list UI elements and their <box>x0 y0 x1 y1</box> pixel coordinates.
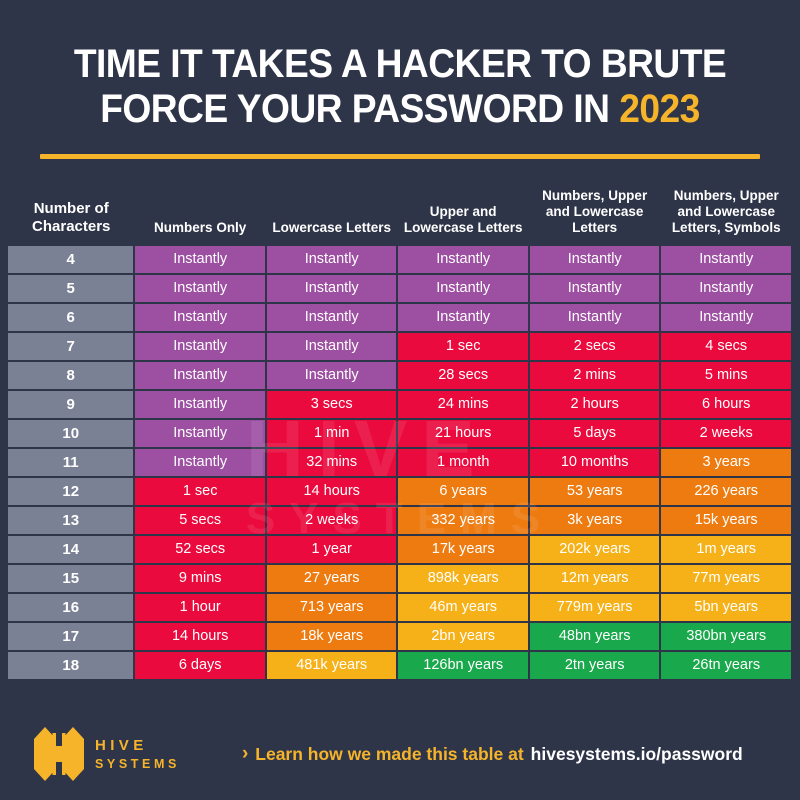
crack-time-cell: Instantly <box>660 304 792 331</box>
crack-time-cell: Instantly <box>397 275 529 302</box>
crack-time-cell: 3 secs <box>266 391 398 418</box>
crack-time-cell: 9 mins <box>134 565 266 592</box>
hive-hexagon-h-icon <box>32 725 86 783</box>
crack-time-cell: 5 mins <box>660 362 792 389</box>
hive-systems-wordmark: HIVE SYSTEMS <box>95 738 180 771</box>
crack-time-cell: 2 weeks <box>660 420 792 447</box>
crack-time-cell: 17k years <box>397 536 529 563</box>
crack-time-cell: 332 years <box>397 507 529 534</box>
row-label-character-count: 9 <box>8 391 134 418</box>
crack-time-cell: 5bn years <box>660 594 792 621</box>
chevron-right-icon: › <box>242 743 248 765</box>
crack-time-cell: 713 years <box>266 594 398 621</box>
row-label-character-count: 7 <box>8 333 134 360</box>
crack-time-cell: Instantly <box>266 304 398 331</box>
table-row: 4InstantlyInstantlyInstantlyInstantlyIns… <box>8 246 792 273</box>
table-row: 7InstantlyInstantly1 sec2 secs4 secs <box>8 333 792 360</box>
crack-time-cell: 1 hour <box>134 594 266 621</box>
crack-time-cell: Instantly <box>134 420 266 447</box>
crack-time-cell: Instantly <box>529 304 661 331</box>
crack-time-cell: 2tn years <box>529 652 661 679</box>
footer-cta-text: Learn how we made this table at <box>255 744 523 765</box>
table-body: 4InstantlyInstantlyInstantlyInstantlyIns… <box>8 246 792 679</box>
crack-time-cell: 53 years <box>529 478 661 505</box>
row-label-character-count: 6 <box>8 304 134 331</box>
row-label-character-count: 15 <box>8 565 134 592</box>
crack-time-cell: Instantly <box>397 246 529 273</box>
crack-time-cell: 5 days <box>529 420 661 447</box>
hive-systems-logo[interactable]: HIVE SYSTEMS <box>32 725 180 783</box>
crack-time-cell: Instantly <box>134 275 266 302</box>
crack-time-cell: 14 hours <box>266 478 398 505</box>
footer-cta-link[interactable]: › Learn how we made this table at hivesy… <box>242 743 743 765</box>
crack-time-cell: Instantly <box>266 362 398 389</box>
title-block: TIME IT TAKES A HACKER TO BRUTE FORCE YO… <box>0 0 800 159</box>
table-row: 6InstantlyInstantlyInstantlyInstantlyIns… <box>8 304 792 331</box>
column-header-numbers-upper-and-lowercase-letters: Numbers, Upper and Lowercase Letters <box>529 188 661 244</box>
row-label-character-count: 4 <box>8 246 134 273</box>
crack-time-cell: Instantly <box>660 275 792 302</box>
crack-time-cell: 3k years <box>529 507 661 534</box>
password-strength-table-wrap: Number of Characters Numbers Only Lowerc… <box>8 186 792 681</box>
row-label-character-count: 11 <box>8 449 134 476</box>
column-header-numbers-upper-lowercase-symbols: Numbers, Upper and Lowercase Letters, Sy… <box>660 188 792 244</box>
table-row: 1452 secs1 year17k years202k years1m yea… <box>8 536 792 563</box>
crack-time-cell: 481k years <box>266 652 398 679</box>
crack-time-cell: Instantly <box>134 304 266 331</box>
crack-time-cell: Instantly <box>134 246 266 273</box>
crack-time-cell: 2 hours <box>529 391 661 418</box>
crack-time-cell: 226 years <box>660 478 792 505</box>
footer-bar: HIVE SYSTEMS › Learn how we made this ta… <box>0 708 800 800</box>
footer-cta-url: hivesystems.io/password <box>531 744 743 765</box>
table-header-row: Number of Characters Numbers Only Lowerc… <box>8 188 792 244</box>
crack-time-cell: 126bn years <box>397 652 529 679</box>
crack-time-cell: Instantly <box>660 246 792 273</box>
row-label-character-count: 17 <box>8 623 134 650</box>
crack-time-cell: Instantly <box>266 333 398 360</box>
row-label-character-count: 16 <box>8 594 134 621</box>
crack-time-cell: 1 month <box>397 449 529 476</box>
table-row: 5InstantlyInstantlyInstantlyInstantlyIns… <box>8 275 792 302</box>
crack-time-cell: 202k years <box>529 536 661 563</box>
crack-time-cell: 898k years <box>397 565 529 592</box>
page-title-year: 2023 <box>619 87 700 131</box>
title-divider <box>40 154 760 159</box>
crack-time-cell: Instantly <box>529 275 661 302</box>
row-label-character-count: 5 <box>8 275 134 302</box>
page-title-line-1: TIME IT TAKES A HACKER TO BRUTE <box>65 42 735 87</box>
crack-time-cell: 48bn years <box>529 623 661 650</box>
crack-time-cell: 2 mins <box>529 362 661 389</box>
crack-time-cell: 6 years <box>397 478 529 505</box>
crack-time-cell: 10 months <box>529 449 661 476</box>
crack-time-cell: 1 sec <box>134 478 266 505</box>
crack-time-cell: 14 hours <box>134 623 266 650</box>
logo-text-hive: HIVE <box>95 738 180 753</box>
infographic-page: TIME IT TAKES A HACKER TO BRUTE FORCE YO… <box>0 0 800 800</box>
crack-time-cell: 28 secs <box>397 362 529 389</box>
table-row: 135 secs2 weeks332 years3k years15k year… <box>8 507 792 534</box>
column-header-number-of-characters: Number of Characters <box>8 188 134 244</box>
crack-time-cell: 26tn years <box>660 652 792 679</box>
crack-time-cell: 32 mins <box>266 449 398 476</box>
crack-time-cell: Instantly <box>134 391 266 418</box>
crack-time-cell: 52 secs <box>134 536 266 563</box>
crack-time-cell: Instantly <box>134 362 266 389</box>
crack-time-cell: Instantly <box>134 449 266 476</box>
crack-time-cell: 27 years <box>266 565 398 592</box>
page-title-line-2-text: FORCE YOUR PASSWORD IN <box>100 87 619 131</box>
logo-text-systems: SYSTEMS <box>95 758 180 771</box>
row-label-character-count: 10 <box>8 420 134 447</box>
table-row: 8InstantlyInstantly28 secs2 mins5 mins <box>8 362 792 389</box>
table-row: 161 hour713 years46m years779m years5bn … <box>8 594 792 621</box>
crack-time-cell: 24 mins <box>397 391 529 418</box>
crack-time-cell: Instantly <box>266 275 398 302</box>
crack-time-cell: 2bn years <box>397 623 529 650</box>
table-row: 11Instantly32 mins1 month10 months3 year… <box>8 449 792 476</box>
table-row: 10Instantly1 min21 hours5 days2 weeks <box>8 420 792 447</box>
table-row: 159 mins27 years898k years12m years77m y… <box>8 565 792 592</box>
table-header: Number of Characters Numbers Only Lowerc… <box>8 188 792 244</box>
crack-time-cell: 1m years <box>660 536 792 563</box>
password-strength-table: Number of Characters Numbers Only Lowerc… <box>8 186 792 681</box>
crack-time-cell: 4 secs <box>660 333 792 360</box>
crack-time-cell: 1 sec <box>397 333 529 360</box>
crack-time-cell: 1 year <box>266 536 398 563</box>
crack-time-cell: 46m years <box>397 594 529 621</box>
crack-time-cell: 380bn years <box>660 623 792 650</box>
row-label-character-count: 18 <box>8 652 134 679</box>
crack-time-cell: 779m years <box>529 594 661 621</box>
crack-time-cell: 6 days <box>134 652 266 679</box>
table-row: 186 days481k years126bn years2tn years26… <box>8 652 792 679</box>
row-label-character-count: 14 <box>8 536 134 563</box>
crack-time-cell: 12m years <box>529 565 661 592</box>
column-header-numbers-only: Numbers Only <box>134 188 266 244</box>
crack-time-cell: 1 min <box>266 420 398 447</box>
table-row: 1714 hours18k years2bn years48bn years38… <box>8 623 792 650</box>
table-row: 121 sec14 hours6 years53 years226 years <box>8 478 792 505</box>
crack-time-cell: Instantly <box>266 246 398 273</box>
crack-time-cell: 21 hours <box>397 420 529 447</box>
crack-time-cell: 2 secs <box>529 333 661 360</box>
column-header-lowercase-letters: Lowercase Letters <box>266 188 398 244</box>
row-label-character-count: 12 <box>8 478 134 505</box>
crack-time-cell: Instantly <box>529 246 661 273</box>
crack-time-cell: 3 years <box>660 449 792 476</box>
crack-time-cell: 18k years <box>266 623 398 650</box>
crack-time-cell: 2 weeks <box>266 507 398 534</box>
crack-time-cell: Instantly <box>134 333 266 360</box>
page-title-line-2: FORCE YOUR PASSWORD IN 2023 <box>65 87 735 132</box>
crack-time-cell: 6 hours <box>660 391 792 418</box>
row-label-character-count: 8 <box>8 362 134 389</box>
crack-time-cell: 77m years <box>660 565 792 592</box>
crack-time-cell: 15k years <box>660 507 792 534</box>
table-row: 9Instantly3 secs24 mins2 hours6 hours <box>8 391 792 418</box>
row-label-character-count: 13 <box>8 507 134 534</box>
column-header-upper-and-lowercase-letters: Upper and Lowercase Letters <box>397 188 529 244</box>
crack-time-cell: 5 secs <box>134 507 266 534</box>
crack-time-cell: Instantly <box>397 304 529 331</box>
